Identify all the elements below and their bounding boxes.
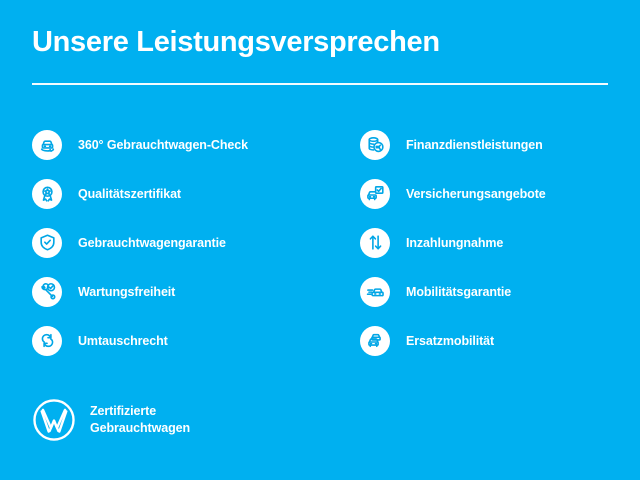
- benefit-label: Wartungsfreiheit: [78, 285, 175, 299]
- benefit-label: Ersatzmobilität: [406, 334, 494, 348]
- benefits-column-left: 360° Gebrauchtwagen-Check Qualitätszerti…: [0, 120, 320, 365]
- wrench-check-icon: [32, 277, 62, 307]
- car-360-check-icon: [32, 130, 62, 160]
- benefit-item[interactable]: Finanzdienstleistungen: [360, 120, 640, 169]
- benefit-label: Inzahlungnahme: [406, 236, 503, 250]
- benefit-label: Mobilitätsgarantie: [406, 285, 511, 299]
- benefit-item[interactable]: 360° Gebrauchtwagen-Check: [32, 120, 320, 169]
- car-motion-icon: [360, 277, 390, 307]
- coins-euro-icon: [360, 130, 390, 160]
- benefit-label: 360° Gebrauchtwagen-Check: [78, 138, 248, 152]
- benefit-item[interactable]: Ersatzmobilität: [360, 316, 640, 365]
- page-title: Unsere Leistungsversprechen: [32, 26, 608, 59]
- shield-check-icon: [32, 228, 62, 258]
- benefit-item[interactable]: Inzahlungnahme: [360, 218, 640, 267]
- benefit-item[interactable]: Versicherungsangebote: [360, 169, 640, 218]
- benefits-column-right: Finanzdienstleistungen Versicheru: [320, 120, 640, 365]
- header-divider: [32, 83, 608, 85]
- benefit-item[interactable]: Wartungsfreiheit: [32, 267, 320, 316]
- benefit-label: Qualitätszertifikat: [78, 187, 181, 201]
- promise-panel: Unsere Leistungsversprechen 360°: [0, 0, 640, 480]
- benefit-item[interactable]: Umtauschrecht: [32, 316, 320, 365]
- benefit-label: Gebrauchtwagengarantie: [78, 236, 226, 250]
- brand-lockup: Zertifizierte Gebrauchtwagen: [32, 398, 190, 442]
- award-rosette-icon: [32, 179, 62, 209]
- brand-line-1: Zertifizierte: [90, 404, 156, 418]
- car-document-check-icon: [360, 179, 390, 209]
- benefits-columns: 360° Gebrauchtwagen-Check Qualitätszerti…: [0, 120, 640, 365]
- two-cars-icon: [360, 326, 390, 356]
- volkswagen-logo: [32, 398, 76, 442]
- benefit-item[interactable]: Gebrauchtwagengarantie: [32, 218, 320, 267]
- up-down-arrows-icon: [360, 228, 390, 258]
- benefit-label: Versicherungsangebote: [406, 187, 546, 201]
- brand-text: Zertifizierte Gebrauchtwagen: [90, 403, 190, 436]
- exchange-arrows-icon: [32, 326, 62, 356]
- header: Unsere Leistungsversprechen: [32, 26, 608, 59]
- benefit-item[interactable]: Qualitätszertifikat: [32, 169, 320, 218]
- brand-line-2: Gebrauchtwagen: [90, 421, 190, 435]
- benefit-item[interactable]: Mobilitätsgarantie: [360, 267, 640, 316]
- benefit-label: Finanzdienstleistungen: [406, 138, 543, 152]
- benefit-label: Umtauschrecht: [78, 334, 168, 348]
